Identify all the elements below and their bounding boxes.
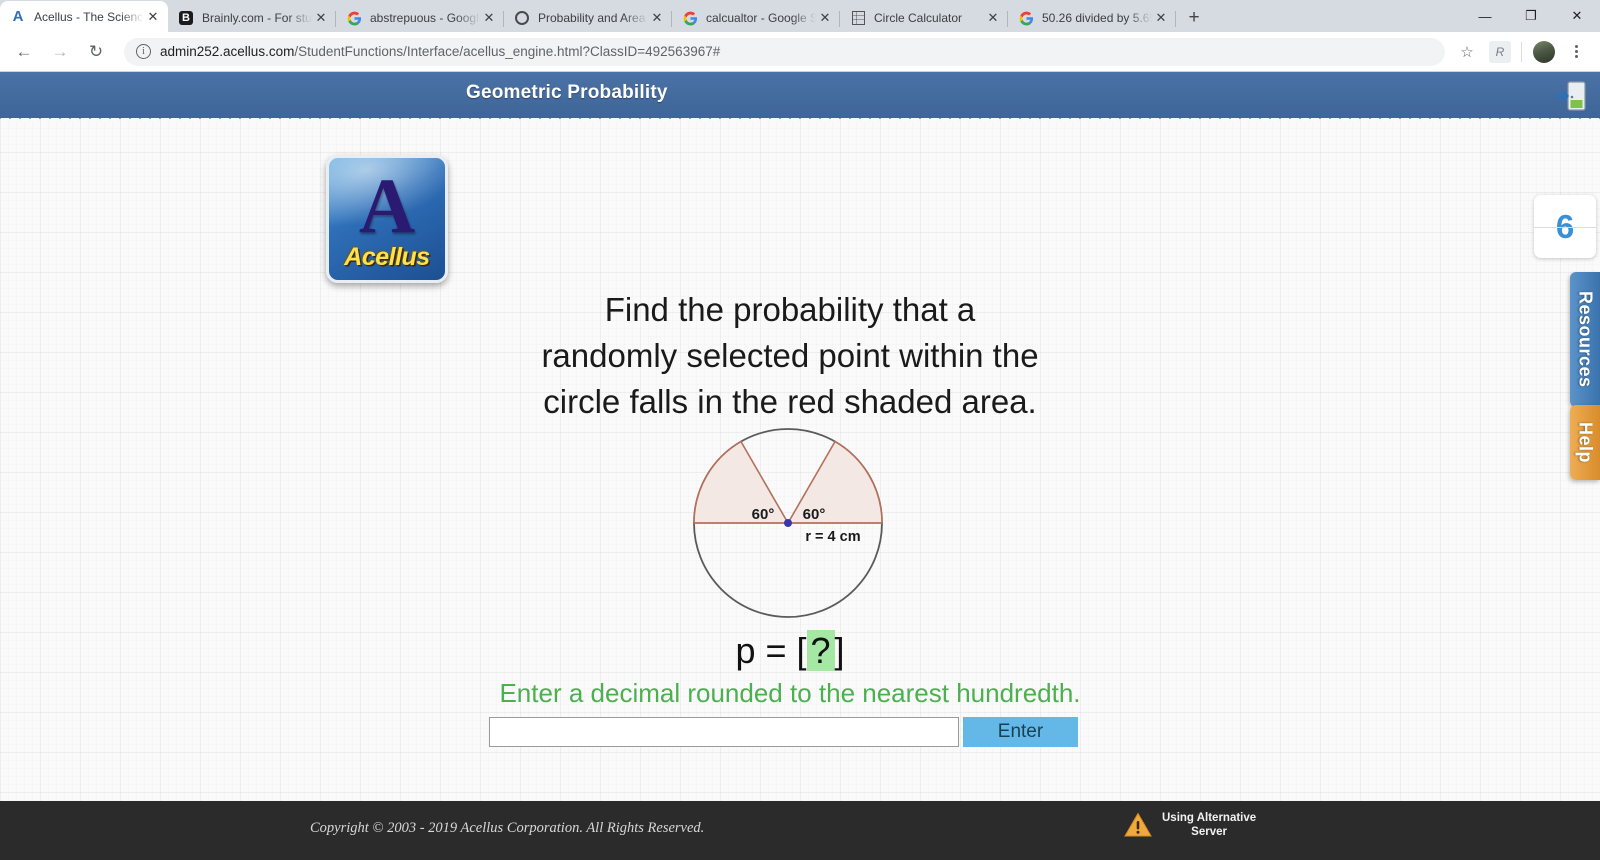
tab-title: calcualtor - Google Sear	[706, 11, 816, 25]
tab-title: Probability and Area (sol	[538, 11, 648, 25]
window-maximize-button[interactable]: ❐	[1508, 0, 1554, 32]
help-tab-label: Help	[1575, 422, 1596, 463]
question-line-0: Find the probability that a	[440, 287, 1140, 333]
google-icon	[1018, 10, 1034, 26]
alternative-server-status: Using Alternative Server	[1124, 811, 1256, 839]
globe-icon	[514, 10, 530, 26]
calculator-icon	[850, 10, 866, 26]
page-title: Geometric Probability	[466, 82, 668, 104]
radius-label: r = 4 cm	[805, 529, 860, 545]
url-path: /StudentFunctions/Interface/acellus_engi…	[294, 44, 720, 59]
site-info-icon[interactable]: i	[136, 44, 151, 59]
enter-button[interactable]: Enter	[963, 717, 1078, 747]
browser-tab-1[interactable]: B Brainly.com - For studen ✕	[168, 4, 336, 32]
alt-server-line-1: Using Alternative	[1162, 811, 1256, 825]
question-text: Find the probability that a randomly sel…	[440, 287, 1140, 425]
answer-suffix: ]	[835, 630, 845, 671]
browser-tab-0[interactable]: A Acellus - The Science of ✕	[0, 1, 168, 32]
bookmark-star-icon[interactable]: ☆	[1453, 43, 1481, 61]
browser-tab-5[interactable]: Circle Calculator ✕	[840, 4, 1008, 32]
acellus-page: Geometric Probability A Acellus Find the…	[0, 72, 1600, 860]
tab-close-icon[interactable]: ✕	[1152, 9, 1170, 27]
toolbar-divider	[1521, 42, 1522, 62]
warning-triangle-icon	[1124, 812, 1152, 838]
browser-menu-icon[interactable]	[1564, 45, 1588, 58]
problem-counter: 6	[1534, 195, 1596, 258]
window-minimize-button[interactable]: —	[1462, 0, 1508, 32]
answer-form: Enter	[489, 717, 1078, 747]
tab-close-icon[interactable]: ✕	[312, 9, 330, 27]
new-tab-button[interactable]: +	[1180, 4, 1208, 32]
angle-label-right: 60°	[803, 506, 826, 523]
tab-strip: A Acellus - The Science of ✕ B Brainly.c…	[0, 0, 1600, 32]
question-line-1: randomly selected point within the	[440, 333, 1140, 379]
google-icon	[346, 10, 362, 26]
forward-button[interactable]: →	[44, 36, 76, 68]
tab-title: Brainly.com - For studen	[202, 11, 312, 25]
answer-expression: p = [?]	[440, 630, 1140, 672]
logo-wordmark: Acellus	[329, 243, 445, 272]
tab-close-icon[interactable]: ✕	[480, 9, 498, 27]
answer-hint: Enter a decimal rounded to the nearest h…	[440, 678, 1140, 709]
tab-close-icon[interactable]: ✕	[816, 9, 834, 27]
tab-title: 50.26 divided by 5.65 - G	[1042, 11, 1152, 25]
exit-door-icon[interactable]	[1554, 78, 1588, 114]
question-line-2: circle falls in the red shaded area.	[440, 379, 1140, 425]
angle-label-left: 60°	[752, 506, 775, 523]
tab-title: Acellus - The Science of	[34, 10, 144, 24]
tab-close-icon[interactable]: ✕	[144, 8, 162, 26]
header-scallop-edge	[0, 118, 1600, 126]
tab-title: Circle Calculator	[874, 11, 984, 25]
tab-close-icon[interactable]: ✕	[984, 9, 1002, 27]
reload-button[interactable]: ↻	[80, 36, 112, 68]
lesson-header: Geometric Probability	[0, 72, 1600, 119]
browser-toolbar: ← → ↻ i admin252.acellus.com/StudentFunc…	[0, 32, 1600, 72]
tab-close-icon[interactable]: ✕	[648, 9, 666, 27]
browser-window: A Acellus - The Science of ✕ B Brainly.c…	[0, 0, 1600, 860]
logo-letter: A	[329, 164, 445, 248]
url-host: admin252.acellus.com	[160, 44, 294, 59]
center-point	[784, 519, 792, 527]
browser-tab-2[interactable]: abstrepuous - Google Se ✕	[336, 4, 504, 32]
address-bar[interactable]: i admin252.acellus.com/StudentFunctions/…	[124, 38, 1445, 66]
window-controls: — ❐ ✕	[1462, 0, 1600, 32]
alternative-server-text: Using Alternative Server	[1162, 811, 1256, 839]
resources-tab-label: Resources	[1575, 291, 1596, 388]
browser-tab-4[interactable]: calcualtor - Google Sear ✕	[672, 4, 840, 32]
answer-placeholder: ?	[807, 630, 835, 671]
tab-title: abstrepuous - Google Se	[370, 11, 480, 25]
answer-prefix: p = [	[735, 630, 806, 671]
circle-diagram: 60° 60° r = 4 cm	[690, 425, 886, 621]
profile-avatar[interactable]	[1533, 41, 1555, 63]
resources-tab[interactable]: Resources	[1570, 272, 1600, 407]
alt-server-line-2: Server	[1162, 825, 1256, 839]
window-close-button[interactable]: ✕	[1554, 0, 1600, 32]
page-footer: Copyright © 2003 - 2019 Acellus Corporat…	[0, 801, 1600, 860]
browser-tab-6[interactable]: 50.26 divided by 5.65 - G ✕	[1008, 4, 1176, 32]
google-icon	[682, 10, 698, 26]
copyright-text: Copyright © 2003 - 2019 Acellus Corporat…	[310, 820, 704, 837]
help-tab[interactable]: Help	[1570, 405, 1600, 480]
acellus-logo: A Acellus	[326, 155, 448, 283]
extension-icon[interactable]: R	[1489, 41, 1511, 63]
acellus-a-icon: A	[10, 9, 26, 25]
back-button[interactable]: ←	[8, 36, 40, 68]
browser-tab-3[interactable]: Probability and Area (sol ✕	[504, 4, 672, 32]
brainly-icon: B	[178, 10, 194, 26]
answer-input[interactable]	[489, 717, 959, 747]
